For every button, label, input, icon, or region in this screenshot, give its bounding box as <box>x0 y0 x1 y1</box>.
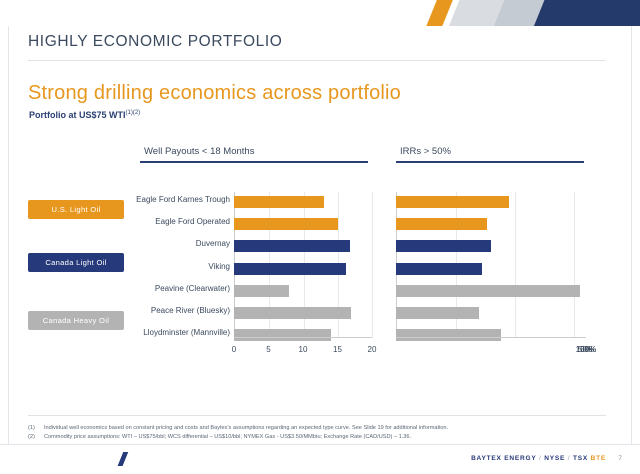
footer-brand-nyse: NYSE <box>544 455 565 462</box>
bar <box>234 218 338 230</box>
chart-header-rule-left <box>140 161 368 163</box>
footnote-1-num: (1) <box>28 424 35 432</box>
chart-title-irr: IRRs > 50% <box>396 146 584 161</box>
footnote-2-num: (2) <box>28 433 35 441</box>
bar <box>396 307 479 319</box>
chart-row <box>396 192 586 214</box>
footnote-2: (2) Commodity price assumptions: WTI – U… <box>28 433 598 441</box>
slide-subtitle: Strong drilling economics across portfol… <box>28 82 401 105</box>
chart-row: Peace River (Bluesky) <box>234 303 372 325</box>
bar <box>396 196 509 208</box>
footer-sep-1: / <box>539 455 542 462</box>
chart-header-payouts: Well Payouts < 18 Months <box>140 146 368 163</box>
bar <box>396 329 501 341</box>
footer-brand-company: BAYTEX ENERGY <box>471 455 536 462</box>
x-tick-label: 0 <box>232 345 236 354</box>
x-axis-right <box>396 337 586 338</box>
title-divider <box>28 60 606 61</box>
chart-row: Viking <box>234 259 372 281</box>
category-label: Viking <box>208 262 230 271</box>
category-label: Peace River (Bluesky) <box>151 306 230 315</box>
chart-row <box>396 214 586 236</box>
footer-brand: BAYTEX ENERGY / NYSE / TSX BTE <box>471 455 606 462</box>
category-label: Lloydminster (Mannville) <box>143 328 230 337</box>
legend-label-us-light-oil: U.S. Light Oil <box>52 205 101 214</box>
footnote-2-text: Commodity price assumptions: WTI – US$75… <box>44 433 598 441</box>
category-label: Eagle Ford Operated <box>155 217 230 226</box>
chart-header-rule-right <box>396 161 584 163</box>
footer-brand-tsx: TSX <box>573 455 588 462</box>
footer-divider <box>0 444 640 445</box>
legend-item-canada-light-oil: Canada Light Oil <box>28 253 124 272</box>
x-ticks-left: 05101520 <box>234 338 372 360</box>
decorative-top-band <box>0 0 640 26</box>
chart-row: Eagle Ford Operated <box>234 214 372 236</box>
bar-rows-left: Eagle Ford Karnes TroughEagle Ford Opera… <box>234 192 372 338</box>
bar <box>234 196 324 208</box>
footnote-1-text: Individual well economics based on const… <box>44 424 598 432</box>
footer-logo-mark <box>116 452 134 466</box>
kicker-footnote-ref: (1)(2) <box>126 110 141 116</box>
x-tick-label: 15 <box>333 345 342 354</box>
bar <box>234 285 289 297</box>
chart-row <box>396 303 586 325</box>
x-tick-label: 10 <box>299 345 308 354</box>
page-number: 7 <box>618 455 622 462</box>
footer-sep-2: / <box>568 455 571 462</box>
category-label: Duvernay <box>196 239 230 248</box>
legend-item-us-light-oil: U.S. Light Oil <box>28 200 124 219</box>
bar <box>396 240 491 252</box>
slide-kicker: Portfolio at US$75 WTI(1)(2) <box>29 110 140 120</box>
bar <box>396 263 482 275</box>
bar <box>234 307 351 319</box>
gridline <box>372 192 373 338</box>
footnote-1: (1) Individual well economics based on c… <box>28 424 598 432</box>
bar <box>396 218 487 230</box>
chart-row <box>396 259 586 281</box>
legend-label-canada-heavy-oil: Canada Heavy Oil <box>43 316 109 325</box>
footer-ticker: BTE <box>591 455 606 462</box>
kicker-text: Portfolio at US$75 WTI <box>29 110 126 120</box>
slide: HIGHLY ECONOMIC PORTFOLIO Strong drillin… <box>0 0 640 474</box>
bar <box>234 263 346 275</box>
chart-row: Peavine (Clearwater) <box>234 281 372 303</box>
bar <box>234 240 350 252</box>
page-title: HIGHLY ECONOMIC PORTFOLIO <box>28 33 282 51</box>
bar <box>396 285 580 297</box>
chart-title-payouts: Well Payouts < 18 Months <box>140 146 368 161</box>
category-label: Eagle Ford Karnes Trough <box>136 195 230 204</box>
x-tick-label: 5 <box>266 345 270 354</box>
category-label: Peavine (Clearwater) <box>155 284 230 293</box>
chart-row <box>396 236 586 258</box>
x-tick-label: 150% <box>576 345 596 354</box>
chart-header-irr: IRRs > 50% <box>396 146 584 163</box>
chart-row: Duvernay <box>234 236 372 258</box>
legend-item-canada-heavy-oil: Canada Heavy Oil <box>28 311 124 330</box>
chart-well-payouts: Eagle Ford Karnes TroughEagle Ford Opera… <box>136 192 372 360</box>
legend-label-canada-light-oil: Canada Light Oil <box>45 258 106 267</box>
chart-row <box>396 281 586 303</box>
band-shape-navy <box>533 0 640 26</box>
footnote-divider <box>28 415 606 416</box>
x-tick-label: 20 <box>368 345 377 354</box>
chart-row: Eagle Ford Karnes Trough <box>234 192 372 214</box>
chart-irr: 0%50%100%150% <box>396 192 586 360</box>
bar-rows-right <box>396 192 586 338</box>
